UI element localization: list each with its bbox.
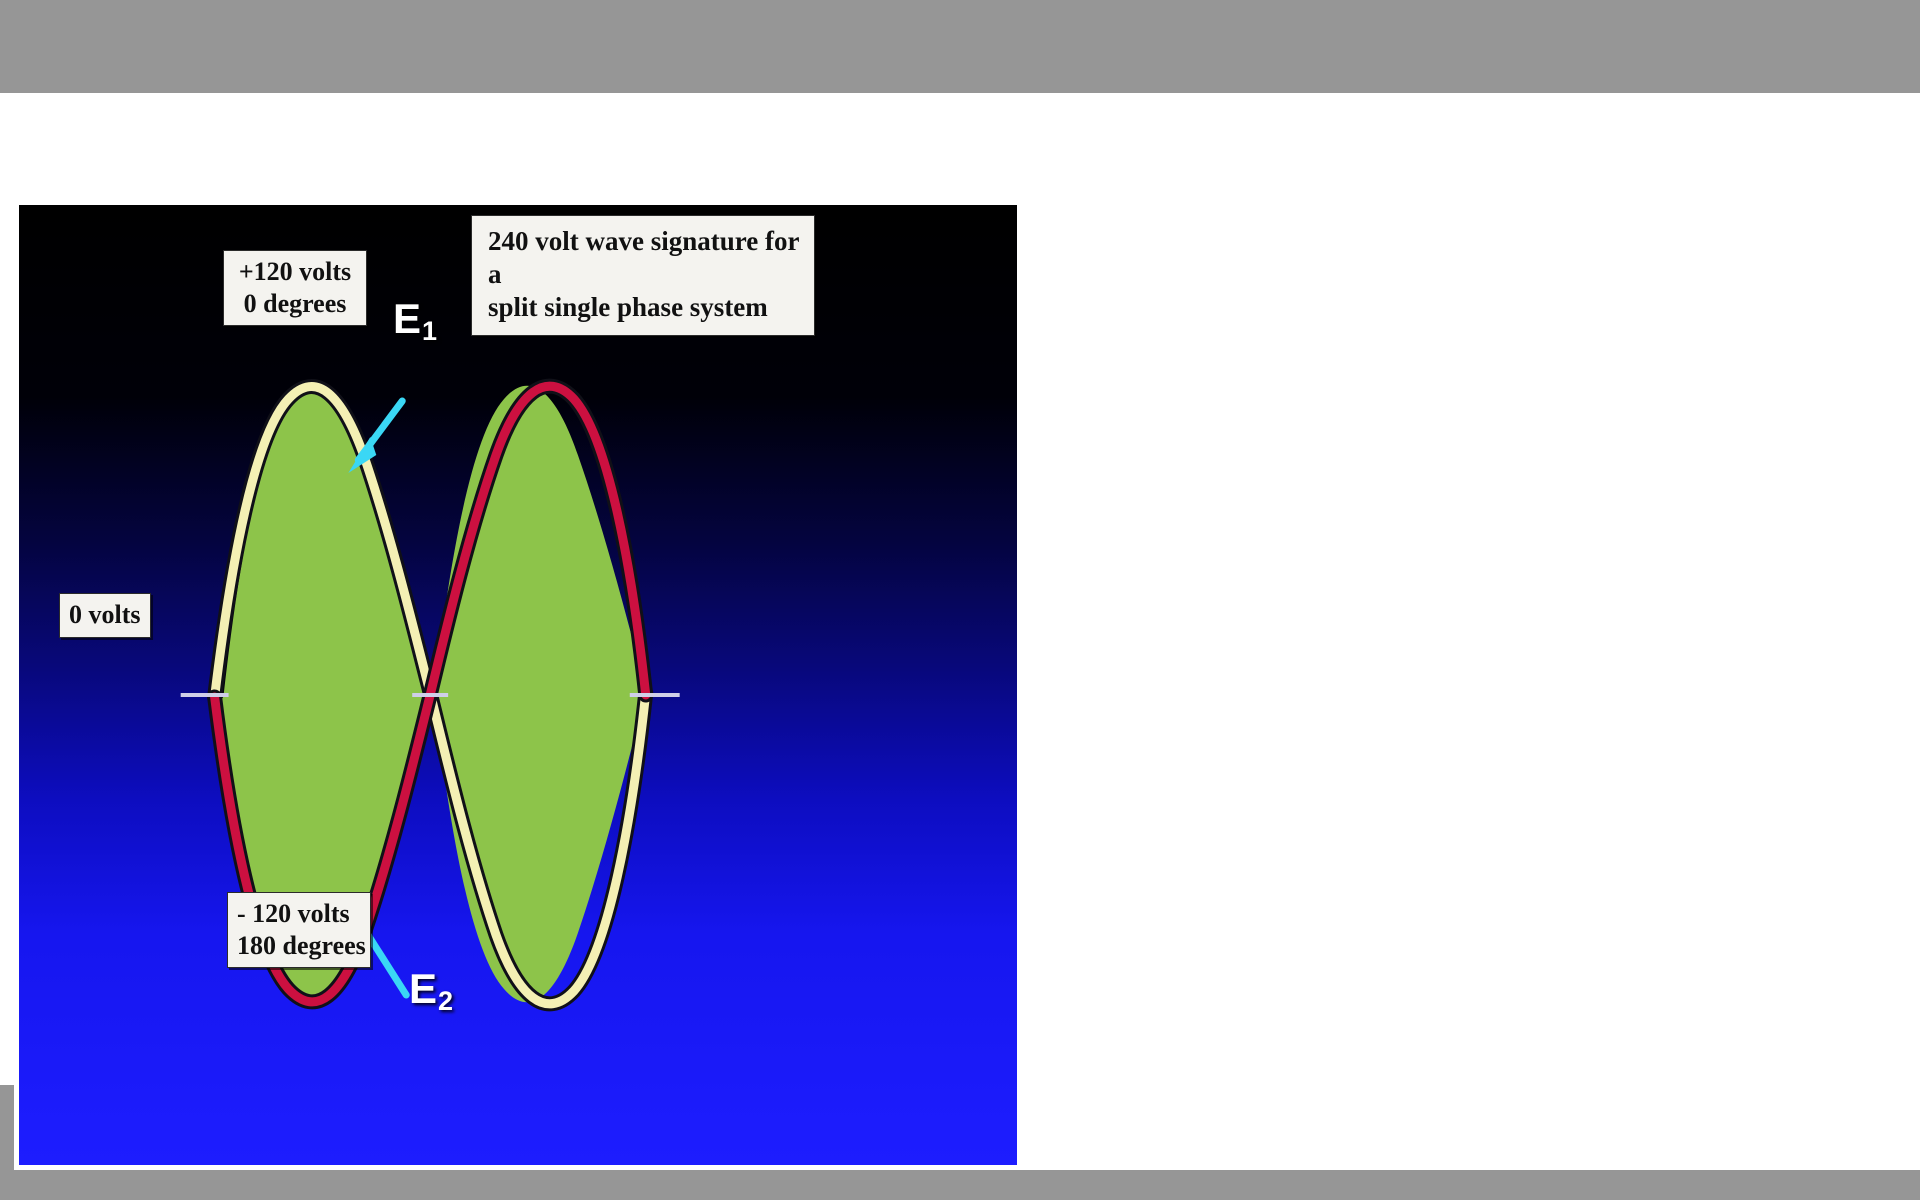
callout-title-line1: 240 volt wave signature for a [488,225,800,291]
callout-zero-line1: 0 volts [69,599,141,631]
callout-peak-line1: +120 volts [233,256,357,288]
figure-canvas: 240 volt wave signature for a split sing… [19,205,1017,1165]
callout-trough-voltage: - 120 volts 180 degrees [227,892,371,968]
waveform-label-e1-base: E [393,295,421,342]
callout-title-line2: split single phase system [488,291,800,324]
waveform-label-e1-subscript: 1 [422,316,437,346]
waveform-label-e2-subscript: 2 [438,986,453,1016]
waveform-label-e2: E2 [409,965,452,1013]
callout-zero-volts: 0 volts [59,593,151,638]
document-viewer: 240 volt wave signature for a split sing… [0,0,1920,1200]
callout-trough-line2: 180 degrees [237,930,361,962]
figure-frame: 240 volt wave signature for a split sing… [14,200,1022,1170]
callout-title: 240 volt wave signature for a split sing… [471,215,815,336]
waveform-label-e1: E1 [393,295,436,343]
callout-peak-voltage: +120 volts 0 degrees [223,250,367,326]
waveform-plot [19,205,1017,1165]
waveform-label-e2-base: E [409,965,437,1012]
page-sheet: 240 volt wave signature for a split sing… [0,93,1920,1085]
callout-trough-line1: - 120 volts [237,898,361,930]
page-blank-area [1022,200,1920,1170]
callout-peak-line2: 0 degrees [233,288,357,320]
